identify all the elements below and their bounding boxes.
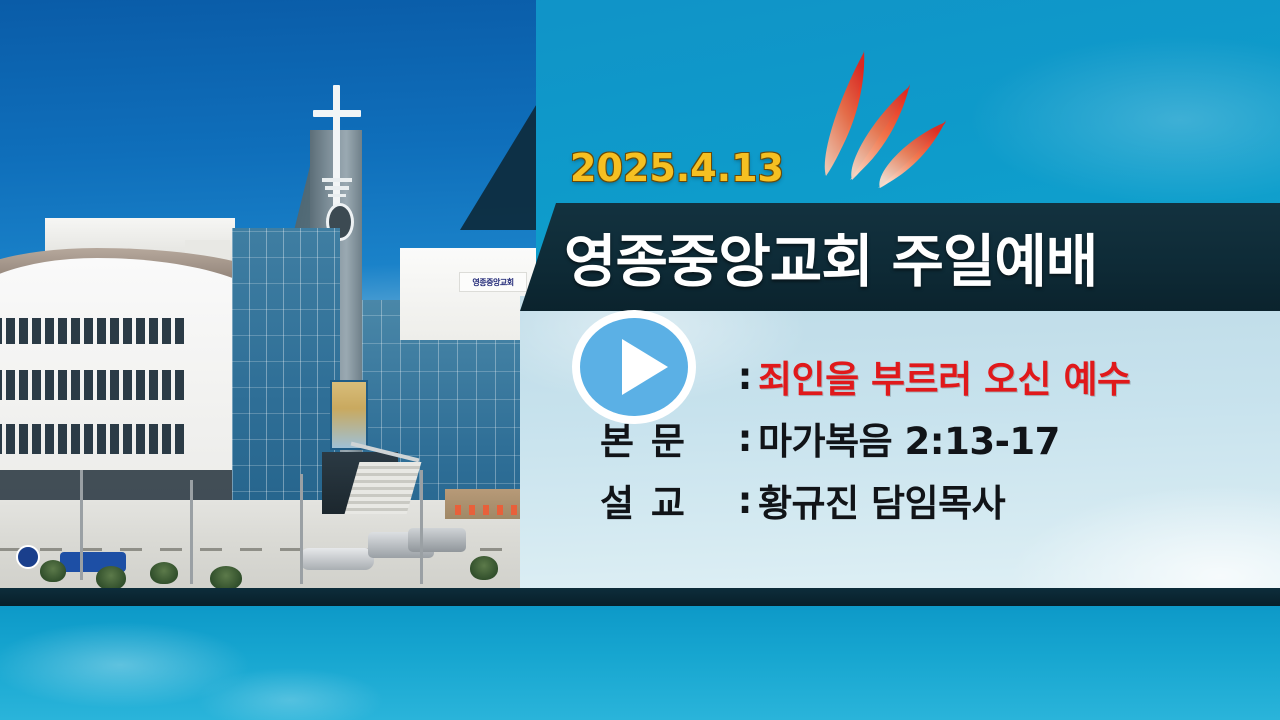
- sermon-topic-colon: :: [732, 355, 758, 398]
- sermon-preacher-row: 설 교 : 황규진 담임목사: [600, 469, 1260, 531]
- light-pole-3: [300, 474, 303, 584]
- church-building-photo: 영종중앙교회: [0, 0, 600, 596]
- sermon-scripture-colon: :: [732, 417, 758, 460]
- ground-floor-windows: [0, 470, 270, 504]
- sermon-preacher-label: 설 교: [600, 473, 732, 527]
- tower-band-1: [322, 178, 352, 182]
- window-strip-lower: [0, 424, 270, 454]
- window-strip-upper: [0, 318, 270, 344]
- sky-lower-background: [0, 605, 1280, 720]
- window-strip-mid: [0, 370, 270, 400]
- church-name-sign-text: 영종중앙교회: [472, 277, 513, 288]
- bottom-divider-strip: [0, 588, 1280, 606]
- traffic-cones: [455, 505, 525, 515]
- facade-banner: [330, 380, 368, 450]
- tree-5: [470, 556, 498, 580]
- road-sign-icon: [16, 545, 40, 569]
- church-name-sign: 영종중앙교회: [459, 272, 527, 292]
- page-title: 영종중앙교회 주일예배: [564, 216, 1097, 298]
- light-pole-4: [420, 470, 423, 584]
- light-pole-2: [190, 480, 193, 584]
- tree-1: [40, 560, 66, 582]
- tree-3: [150, 562, 178, 584]
- broadcast-date: 2025.4.13: [570, 146, 784, 190]
- parked-sedan: [300, 548, 374, 570]
- sermon-preacher-value: 황규진 담임목사: [758, 473, 1005, 527]
- sermon-preacher-colon: :: [732, 479, 758, 522]
- tree-4: [210, 566, 242, 590]
- sermon-topic-value: 죄인을 부르러 오신 예수: [758, 349, 1131, 403]
- flame-logo: [806, 48, 956, 208]
- tower-band-2: [325, 186, 349, 190]
- tower-band-3: [328, 194, 346, 197]
- sermon-scripture-value: 마가복음 2:13-17: [758, 411, 1060, 465]
- title-band: 영종중앙교회 주일예배: [520, 203, 1280, 311]
- cross-bar: [313, 110, 361, 117]
- parked-van-2: [408, 528, 466, 552]
- video-thumbnail-stage: 영종중앙교회: [0, 0, 1280, 720]
- tree-2: [96, 566, 126, 590]
- light-pole-1: [80, 470, 83, 580]
- play-button[interactable]: [568, 306, 700, 428]
